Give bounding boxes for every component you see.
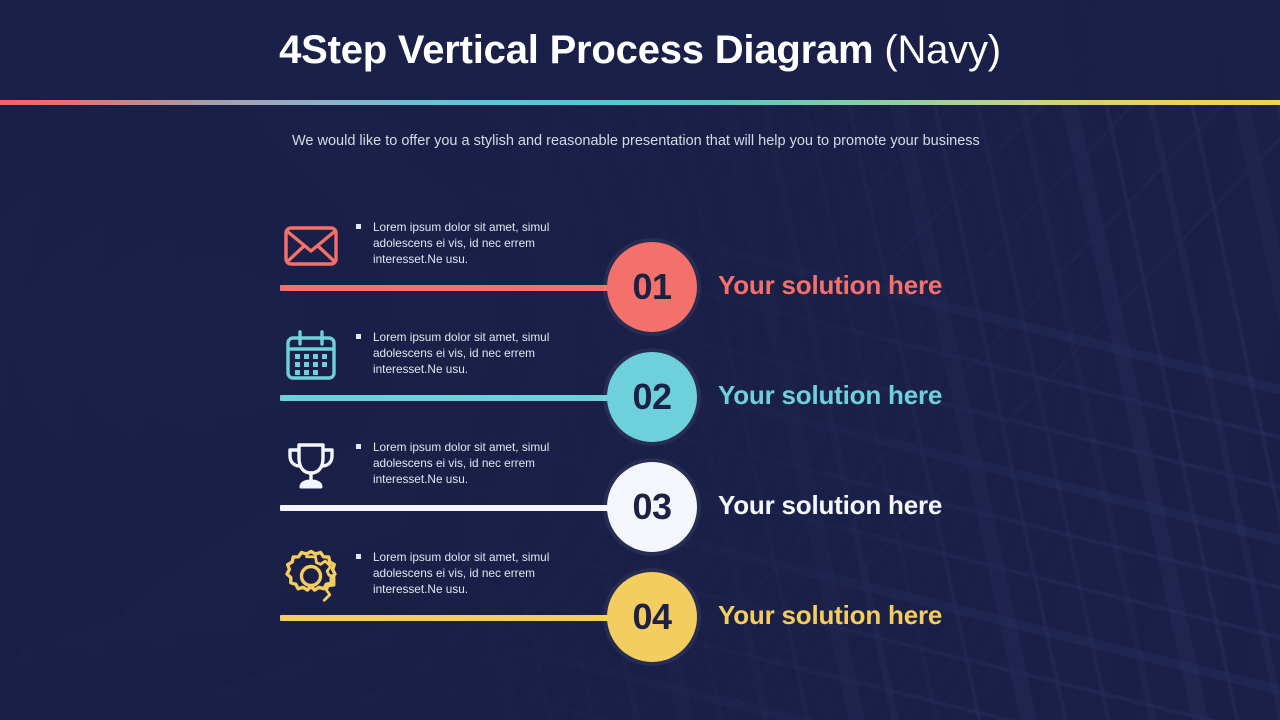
bullet-square-icon [356, 224, 361, 229]
envelope-icon [280, 217, 342, 275]
step-heading: Your solution here [718, 380, 942, 411]
step-heading: Your solution here [718, 490, 942, 521]
step-number-badge[interactable]: 01 [607, 242, 697, 332]
step-description-text: Lorem ipsum dolor sit amet, simul adoles… [373, 549, 582, 597]
bullet-square-icon [356, 554, 361, 559]
step-number-label: 04 [632, 596, 671, 638]
process-step-row: Lorem ipsum dolor sit amet, simul adoles… [0, 217, 1280, 327]
step-heading: Your solution here [718, 600, 942, 631]
step-connector-line [280, 505, 655, 511]
process-step-row: Lorem ipsum dolor sit amet, simul adoles… [0, 437, 1280, 547]
process-step-row: Lorem ipsum dolor sit amet, simul adoles… [0, 327, 1280, 437]
step-description-text: Lorem ipsum dolor sit amet, simul adoles… [373, 329, 582, 377]
step-description: Lorem ipsum dolor sit amet, simul adoles… [356, 219, 582, 267]
bullet-square-icon [356, 444, 361, 449]
step-number-badge[interactable]: 04 [607, 572, 697, 662]
step-description: Lorem ipsum dolor sit amet, simul adoles… [356, 439, 582, 487]
step-description: Lorem ipsum dolor sit amet, simul adoles… [356, 549, 582, 597]
step-connector-line [280, 615, 655, 621]
step-description-text: Lorem ipsum dolor sit amet, simul adoles… [373, 219, 582, 267]
step-number-badge[interactable]: 03 [607, 462, 697, 552]
slide-canvas: 4Step Vertical Process Diagram (Navy) We… [0, 0, 1280, 720]
step-number-label: 02 [632, 376, 671, 418]
process-step-list: Lorem ipsum dolor sit amet, simul adoles… [0, 0, 1280, 720]
step-description: Lorem ipsum dolor sit amet, simul adoles… [356, 329, 582, 377]
trophy-icon [280, 437, 342, 495]
step-connector-line [280, 395, 655, 401]
step-description-text: Lorem ipsum dolor sit amet, simul adoles… [373, 439, 582, 487]
step-number-badge[interactable]: 02 [607, 352, 697, 442]
gear-icon [280, 547, 342, 605]
step-heading: Your solution here [718, 270, 942, 301]
step-number-label: 03 [632, 486, 671, 528]
bullet-square-icon [356, 334, 361, 339]
step-connector-line [280, 285, 655, 291]
calendar-icon [280, 327, 342, 385]
step-number-label: 01 [632, 266, 671, 308]
process-step-row: Lorem ipsum dolor sit amet, simul adoles… [0, 547, 1280, 657]
